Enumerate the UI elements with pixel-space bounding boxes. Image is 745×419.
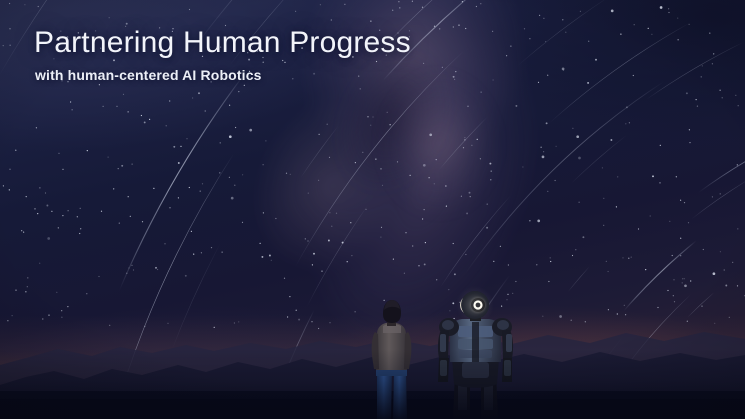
video-frame: Partnering Human Progress with human-cen… bbox=[0, 0, 745, 419]
page-title: Partnering Human Progress bbox=[34, 27, 411, 59]
human-figure bbox=[372, 300, 412, 419]
humanoid-robot-figure bbox=[438, 286, 513, 419]
page-subtitle: with human-centered AI Robotics bbox=[35, 67, 411, 83]
title-block: Partnering Human Progress with human-cen… bbox=[34, 27, 411, 83]
